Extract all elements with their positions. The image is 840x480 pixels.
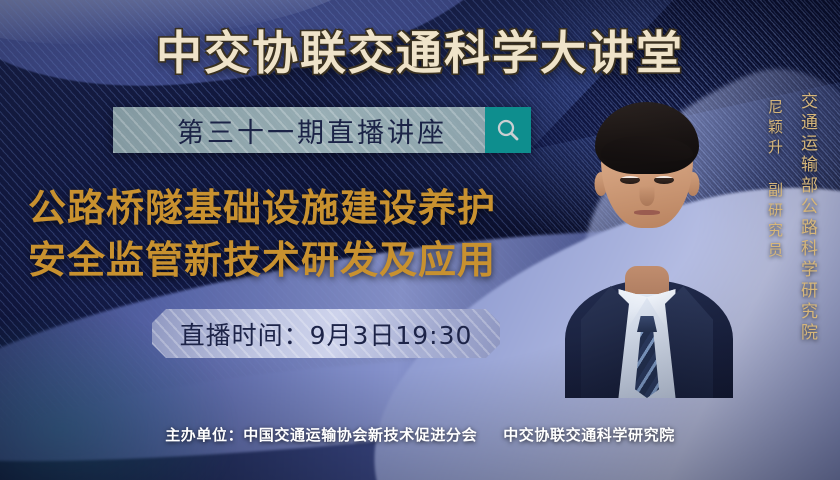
episode-banner: 第三十一期直播讲座 [113,107,531,153]
footer-institute-label: 中交协联交通科学研究院 [503,426,675,444]
search-icon-button[interactable] [485,107,531,153]
portrait-nose [640,186,655,206]
search-icon [495,117,521,143]
broadcast-time-label: 直播时间：9月3日19:30 [180,316,473,352]
portrait-hair [595,102,699,174]
headline-line-1: 公路桥隧基础设施建设养护 [28,182,496,234]
speaker-organization: 交通运输部公路科学研究院 [795,92,820,344]
live-stream-poster: 中交协联交通科学大讲堂 第三十一期直播讲座 公路桥隧基础设施建设养护 安全监管新… [0,0,840,480]
portrait-mouth [634,210,660,215]
portrait-eye-right [654,176,674,184]
page-title: 中交协联交通科学大讲堂 [0,17,840,83]
headline-line-2: 安全监管新技术研发及应用 [28,234,496,286]
broadcast-time-badge: 直播时间：9月3日19:30 [152,309,500,358]
episode-label: 第三十一期直播讲座 [113,111,485,150]
speaker-portrait [571,86,723,398]
footer-organizers: 主办单位：中国交通运输协会新技术促进分会中交协联交通科学研究院 [0,424,840,445]
speaker-name-title: 尼颖升 副研究员 [765,99,786,262]
portrait-eye-left [620,176,640,184]
footer-organizer-label: 主办单位：中国交通运输协会新技术促进分会 [165,426,477,444]
lecture-headline: 公路桥隧基础设施建设养护 安全监管新技术研发及应用 [28,182,496,287]
